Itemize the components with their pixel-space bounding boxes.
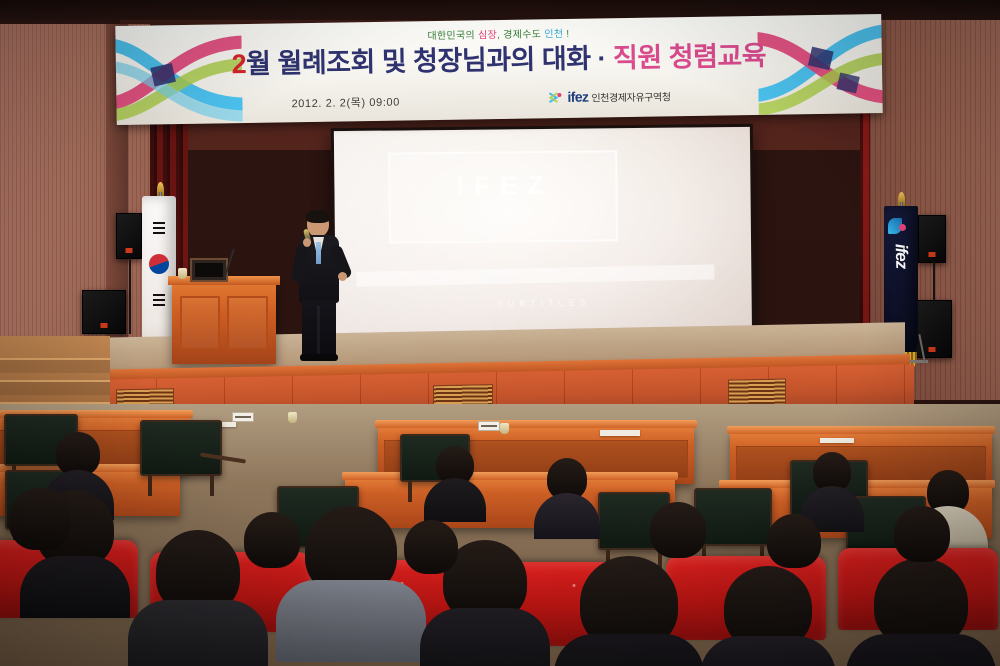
stage-step <box>0 380 110 395</box>
banner-ifez-logo: ifez 인천경제자유구역청 <box>548 87 670 105</box>
ifez-brand-text: ifez <box>567 89 588 105</box>
banner-title-navy: 월 월례조회 및 청장님과의 대화 <box>246 44 591 79</box>
slide-subtitle-text: SUBTITLES <box>336 296 752 310</box>
person-shoulders <box>276 580 426 662</box>
banner-title-magenta: 직원 청렴교육 <box>613 41 766 73</box>
audience-member <box>638 502 718 564</box>
projection-screen: IFEZ SUBTITLES <box>334 127 752 348</box>
audience-member <box>232 512 312 574</box>
person-shoulders <box>424 478 486 522</box>
person-shoulders <box>534 493 600 539</box>
podium-cup <box>178 268 187 279</box>
person-shoulders <box>20 556 130 618</box>
desk-nameplate <box>232 412 254 422</box>
presenter-hair <box>306 210 330 223</box>
desk-papers <box>820 438 854 443</box>
audience-member <box>882 506 962 566</box>
ifez-org-text: 인천경제자유구역청 <box>591 88 670 104</box>
person-shoulders <box>420 608 550 666</box>
seated-official <box>424 446 486 520</box>
trigram-bar <box>153 227 165 229</box>
podium <box>172 282 276 364</box>
presenter-shoes <box>300 354 338 361</box>
audience-member <box>392 520 470 578</box>
person-shoulders <box>128 600 268 666</box>
person-head <box>404 520 458 574</box>
trigram-bar <box>153 294 165 296</box>
person-shoulders <box>846 634 996 666</box>
speaker-stand-left <box>129 258 131 334</box>
seated-official <box>534 458 600 536</box>
audience-member-long-hair <box>554 556 704 666</box>
person-head <box>767 514 821 568</box>
audience-member <box>0 488 86 558</box>
trigram-bar <box>153 304 165 306</box>
slide-highlight-bar <box>356 264 714 287</box>
wall-speaker-upper-right <box>918 215 946 263</box>
ifez-mark-icon <box>548 90 564 103</box>
board-chair[interactable] <box>140 420 222 476</box>
podium-panel <box>227 296 268 350</box>
desk-top <box>342 472 678 480</box>
speaker-stand-right <box>933 262 935 310</box>
audience-member <box>700 566 836 666</box>
banner-title-separator: · <box>590 43 613 73</box>
wall-speaker-upper-left <box>116 213 142 259</box>
desk-cup <box>500 423 509 434</box>
audience-member <box>756 514 832 572</box>
presenter-trousers <box>302 300 336 356</box>
desk-nameplate <box>478 421 500 431</box>
presenter-necktie <box>316 242 321 264</box>
person-head <box>894 506 950 562</box>
desk-papers <box>600 430 640 436</box>
trigram-bar <box>153 232 165 234</box>
stage-step <box>0 358 110 373</box>
person-head <box>9 488 71 550</box>
ifez-flag-text: ifez <box>890 241 911 272</box>
ifez-flag-dot-icon <box>899 224 906 231</box>
person-shoulders <box>554 634 704 666</box>
auditorium-photo: IFEZ SUBTITLES <box>0 0 1000 666</box>
desk-top <box>727 426 995 434</box>
trigram-bar <box>153 222 165 224</box>
podium-panel <box>180 296 220 350</box>
presenter-left-hand <box>303 238 311 247</box>
presenter-right-hand <box>338 272 347 281</box>
desk-top <box>375 420 697 428</box>
floor-speaker-left <box>82 290 126 334</box>
taeguk-symbol-icon <box>149 254 169 274</box>
trigram-bar <box>153 299 165 301</box>
person-head <box>244 512 300 568</box>
event-banner: 대한민국의 심장, 경제수도 인천 ! 2월 월례조회 및 청장님과의 대화 ·… <box>115 14 882 125</box>
projection-screen-frame: IFEZ SUBTITLES <box>331 124 755 354</box>
audience-member <box>846 558 996 666</box>
banner-date-time: 2012. 2. 2(목) 09:00 <box>291 94 400 112</box>
person-head <box>650 502 706 558</box>
slide-ghost-text: IFEZ <box>417 172 592 222</box>
person-shoulders <box>700 636 836 666</box>
banner-month-number: 2 <box>231 49 246 79</box>
desk-cup <box>288 412 297 423</box>
chair-legs <box>146 474 216 496</box>
presenter-speaker <box>293 212 345 360</box>
floor-speaker-right <box>912 300 952 358</box>
